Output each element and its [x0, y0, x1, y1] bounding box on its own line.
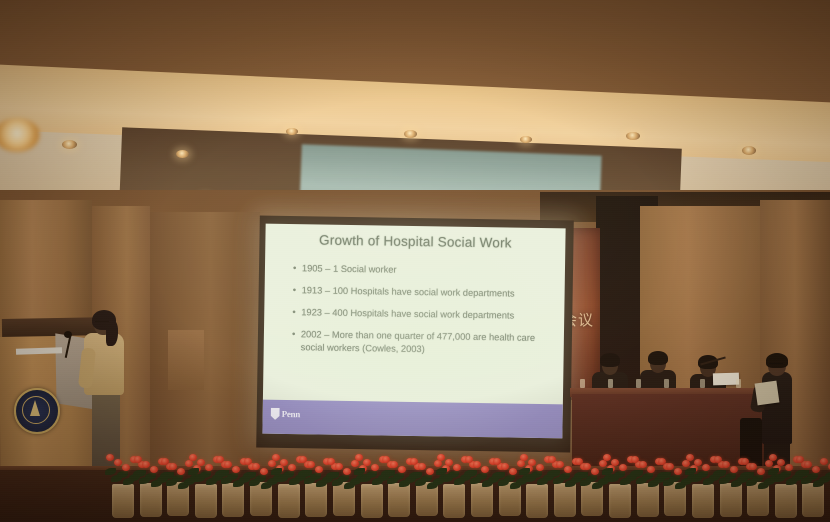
leaf	[780, 471, 791, 478]
leaf	[752, 475, 763, 482]
flower-bloom	[548, 456, 556, 463]
flower-bloom	[169, 463, 177, 470]
flower-bloom	[804, 461, 812, 468]
leaf	[215, 470, 226, 477]
flower-bloom	[583, 463, 591, 470]
bullet-marker-icon: •	[292, 328, 301, 354]
leaf	[504, 475, 515, 482]
drinking-glass	[700, 379, 705, 388]
leaf	[421, 475, 432, 482]
flower-bloom	[161, 458, 169, 465]
flower-bloom	[114, 459, 122, 466]
leaf	[393, 473, 404, 480]
leaf	[338, 475, 349, 482]
leaf	[713, 470, 724, 477]
leaf	[669, 475, 680, 482]
leaf	[145, 473, 156, 480]
slide-bullet-text: 1905 – 1 Social worker	[302, 262, 397, 276]
projection-screen: Growth of Hospital Social Work •1905 – 1…	[262, 224, 565, 439]
penn-wordmark: Penn	[282, 409, 300, 419]
flower-bloom	[556, 461, 564, 468]
flower-bloom	[307, 461, 315, 468]
leaf	[354, 468, 365, 475]
drinking-glass	[736, 379, 741, 388]
leaf	[200, 471, 211, 478]
flower-bloom	[714, 456, 722, 463]
slide-bullet: •1923 – 400 Hospitals have social work d…	[292, 306, 542, 323]
flower-bloom	[272, 454, 280, 461]
ceiling-downlight-icon	[286, 128, 298, 135]
bullet-marker-icon: •	[292, 306, 301, 319]
leaf	[795, 470, 806, 477]
leaf	[476, 473, 487, 480]
slide-bullet-text: 1923 – 400 Hospitals have social work de…	[301, 306, 514, 322]
leaf	[492, 472, 503, 479]
shield-icon	[271, 408, 280, 420]
leaf	[105, 468, 116, 475]
drinking-glass	[664, 379, 669, 388]
penn-logo: Penn	[271, 408, 300, 420]
leaf	[283, 471, 294, 478]
leaf	[725, 473, 736, 480]
wall-pillar-center	[150, 212, 260, 492]
flower-bloom	[666, 463, 674, 470]
leaf	[117, 471, 128, 478]
leaf	[298, 470, 309, 477]
auditorium-photo: 会议 Growth of Hospital Social Work •1905 …	[0, 0, 830, 522]
leaf	[586, 475, 597, 482]
flower-bloom	[639, 461, 647, 468]
leaf	[326, 472, 337, 479]
leaf	[271, 468, 282, 475]
flower-bloom	[631, 456, 639, 463]
speaker-glasses-icon	[95, 321, 109, 325]
leaf	[243, 472, 254, 479]
slide-bullet: •1905 – 1 Social worker	[293, 262, 543, 279]
leaf	[825, 472, 830, 479]
leaf	[519, 468, 530, 475]
flower-bloom	[327, 458, 335, 465]
ceiling-downlight-icon	[742, 146, 756, 155]
flower-bloom	[134, 456, 142, 463]
flower-bloom	[473, 461, 481, 468]
flower-bloom	[410, 458, 418, 465]
standing-person-papers	[755, 381, 780, 406]
flower-bloom	[437, 454, 445, 461]
leaf	[133, 470, 144, 477]
flower-bloom	[658, 458, 666, 465]
leaf	[807, 473, 818, 480]
leaf	[366, 471, 377, 478]
microphone-icon	[64, 331, 72, 338]
leaf	[614, 471, 625, 478]
leaf	[172, 475, 183, 482]
leaf	[409, 472, 420, 479]
flower-bloom	[390, 461, 398, 468]
flower-bloom	[501, 463, 509, 470]
flower-bloom	[418, 463, 426, 470]
flower-bloom	[280, 459, 288, 466]
leaf	[559, 473, 570, 480]
drinking-glass	[636, 379, 641, 388]
flower-bloom	[528, 459, 536, 466]
standing-person-glasses-icon	[769, 363, 783, 367]
flower-bloom	[812, 466, 820, 473]
flower-bloom	[355, 454, 363, 461]
flower-bloom	[189, 454, 197, 461]
leaf	[547, 470, 558, 477]
leaf	[255, 475, 266, 482]
flower-bloom	[363, 459, 371, 466]
leaf	[740, 472, 751, 479]
leaf	[464, 470, 475, 477]
leaf	[160, 472, 171, 479]
flower-bloom	[299, 456, 307, 463]
slide-title: Growth of Hospital Social Work	[265, 232, 565, 252]
leaf	[697, 471, 708, 478]
ceiling-downlight-icon	[404, 130, 417, 138]
leaf	[574, 472, 585, 479]
ceiling-downlight-icon	[62, 140, 77, 149]
slide-bullet-text: 1913 – 100 Hospitals have social work de…	[302, 284, 515, 300]
flower-bloom	[106, 454, 114, 461]
bullet-marker-icon: •	[293, 284, 302, 297]
drinking-glass	[580, 379, 585, 388]
flower-bloom	[722, 461, 730, 468]
leaf	[657, 472, 668, 479]
flower-bloom	[575, 458, 583, 465]
slide-bullet-text: 2002 – More than one quarter of 477,000 …	[301, 328, 542, 358]
leaf	[531, 471, 542, 478]
flower-bloom	[749, 463, 757, 470]
flower-bloom	[445, 459, 453, 466]
leaf	[448, 471, 459, 478]
leaf	[381, 470, 392, 477]
slide-bullet-list: •1905 – 1 Social worker•1913 – 100 Hospi…	[291, 262, 543, 367]
leaf	[436, 468, 447, 475]
drinking-glass	[608, 379, 613, 388]
leaf	[768, 468, 779, 475]
panelist-hair	[600, 353, 620, 367]
flower-bloom	[820, 458, 828, 465]
flower-bloom	[493, 458, 501, 465]
bullet-marker-icon: •	[293, 262, 302, 275]
ceiling-downlight-icon	[626, 132, 640, 140]
flower-bloom	[142, 461, 150, 468]
wall-panel-plate	[168, 330, 204, 390]
slide-bullet: •2002 – More than one quarter of 477,000…	[292, 328, 542, 358]
flower-bloom	[611, 459, 619, 466]
leaf	[630, 470, 641, 477]
flower-bloom	[252, 463, 260, 470]
ceiling-downlight-icon	[176, 150, 189, 158]
slide-footer-band: Penn	[262, 400, 562, 439]
leaf	[227, 473, 238, 480]
flower-bloom	[741, 458, 749, 465]
flower-bloom	[224, 461, 232, 468]
flower-bloom	[796, 456, 804, 463]
leaf	[188, 468, 199, 475]
flower-bloom	[520, 454, 528, 461]
flower-bloom	[603, 454, 611, 461]
flower-bush	[792, 454, 830, 494]
leaf	[642, 473, 653, 480]
leaf	[685, 468, 696, 475]
flower-bloom	[686, 454, 694, 461]
flower-bloom	[769, 454, 777, 461]
leaf	[310, 473, 321, 480]
flower-bloom	[382, 456, 390, 463]
slide-bullet: •1913 – 100 Hospitals have social work d…	[293, 284, 543, 301]
flower-bloom	[197, 459, 205, 466]
flower-bloom	[465, 456, 473, 463]
leaf	[602, 468, 613, 475]
flower-bloom	[244, 458, 252, 465]
ceiling-downlight-icon	[520, 136, 532, 143]
flower-bloom	[335, 463, 343, 470]
flower-bloom	[777, 459, 785, 466]
flower-bloom	[216, 456, 224, 463]
panelist-hair	[648, 351, 668, 365]
flower-bloom	[694, 459, 702, 466]
